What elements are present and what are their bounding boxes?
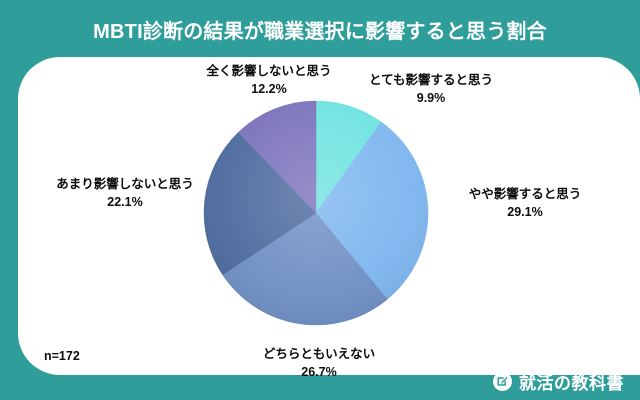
pie-label-value: 26.7% [224, 363, 414, 381]
edit-circle-icon [493, 372, 512, 391]
pie-chart-svg [200, 95, 432, 335]
chart-screen: MBTI診断の結果が職業選択に影響すると思う割合 全く影響しないと思う 12.2… [0, 0, 640, 400]
pie-label-text: とても影響すると思う [369, 73, 493, 87]
brand-logo-text: 就活の教科書 [519, 369, 624, 394]
pie-label-value: 9.9% [336, 89, 526, 107]
pie-label-text: やや影響すると思う [469, 187, 582, 201]
pie-shading-overlay [204, 101, 428, 325]
pie-label-value: 22.1% [30, 193, 220, 211]
page-title: MBTI診断の結果が職業選択に影響すると思う割合 [93, 15, 547, 44]
pie-label-somewhat-influence: やや影響すると思う 29.1% [430, 185, 620, 221]
sample-size-label: n=172 [44, 349, 80, 363]
pie-label-text: 全く影響しないと思う [206, 64, 331, 78]
pie-label-value: 29.1% [430, 203, 620, 221]
chart-card: 全く影響しないと思う 12.2% とても影響すると思う 9.9% やや影響すると… [18, 57, 640, 375]
pie-label-little-influence: あまり影響しないと思う 22.1% [30, 175, 220, 211]
title-bar: MBTI診断の結果が職業選択に影響すると思う割合 [0, 0, 640, 58]
pie-label-very-influence: とても影響すると思う 9.9% [336, 71, 526, 107]
pie-label-text: あまり影響しないと思う [56, 177, 194, 191]
brand-logo[interactable]: 就活の教科書 [493, 369, 624, 394]
pie-label-text: どちらともいえない [263, 347, 375, 361]
pie-label-neither: どちらともいえない 26.7% [224, 345, 414, 381]
